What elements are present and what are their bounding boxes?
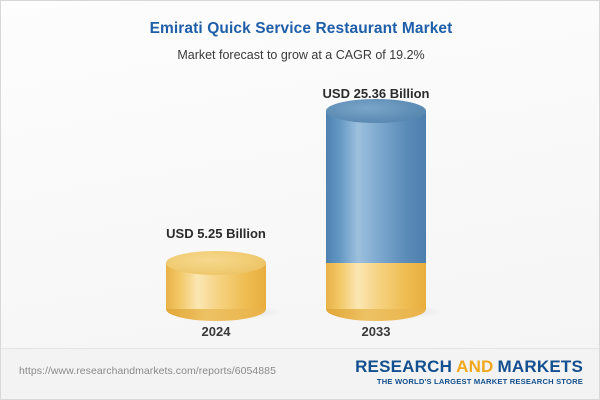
research-and-markets-logo[interactable]: RESEARCHANDMARKETS THE WORLD'S LARGEST M… [355, 357, 583, 386]
cylinder-body-2033 [326, 111, 426, 263]
logo-wordmark: RESEARCHANDMARKETS [355, 357, 583, 376]
logo-tagline: THE WORLD'S LARGEST MARKET RESEARCH STOR… [355, 377, 583, 386]
bar-cylinder-2033[interactable] [326, 111, 426, 309]
category-label-2033: 2033 [296, 324, 456, 339]
logo-word-research: RESEARCH [355, 357, 452, 376]
plot-area: USD 5.25 Billion 2024 USD 25.36 Billion [1, 1, 600, 349]
bar-segment-2033-growth [326, 111, 426, 263]
value-label-2024: USD 5.25 Billion [136, 226, 296, 241]
cylinder-base-body-2033 [326, 263, 426, 309]
logo-word-markets: MARKETS [498, 357, 583, 376]
bar-segment-2024-base [166, 251, 266, 309]
report-url-link[interactable]: https://www.researchandmarkets.com/repor… [19, 365, 276, 377]
category-label-2024: 2024 [136, 324, 296, 339]
cylinder-top-ellipse-2024 [166, 251, 266, 275]
logo-word-and: AND [456, 357, 493, 376]
footer-bar: https://www.researchandmarkets.com/repor… [1, 348, 599, 399]
bar-segment-2033-base [326, 263, 426, 309]
bar-cylinder-2024[interactable] [166, 251, 266, 309]
chart-canvas: Emirati Quick Service Restaurant Market … [0, 0, 600, 400]
cylinder-top-ellipse-2033 [326, 99, 426, 123]
